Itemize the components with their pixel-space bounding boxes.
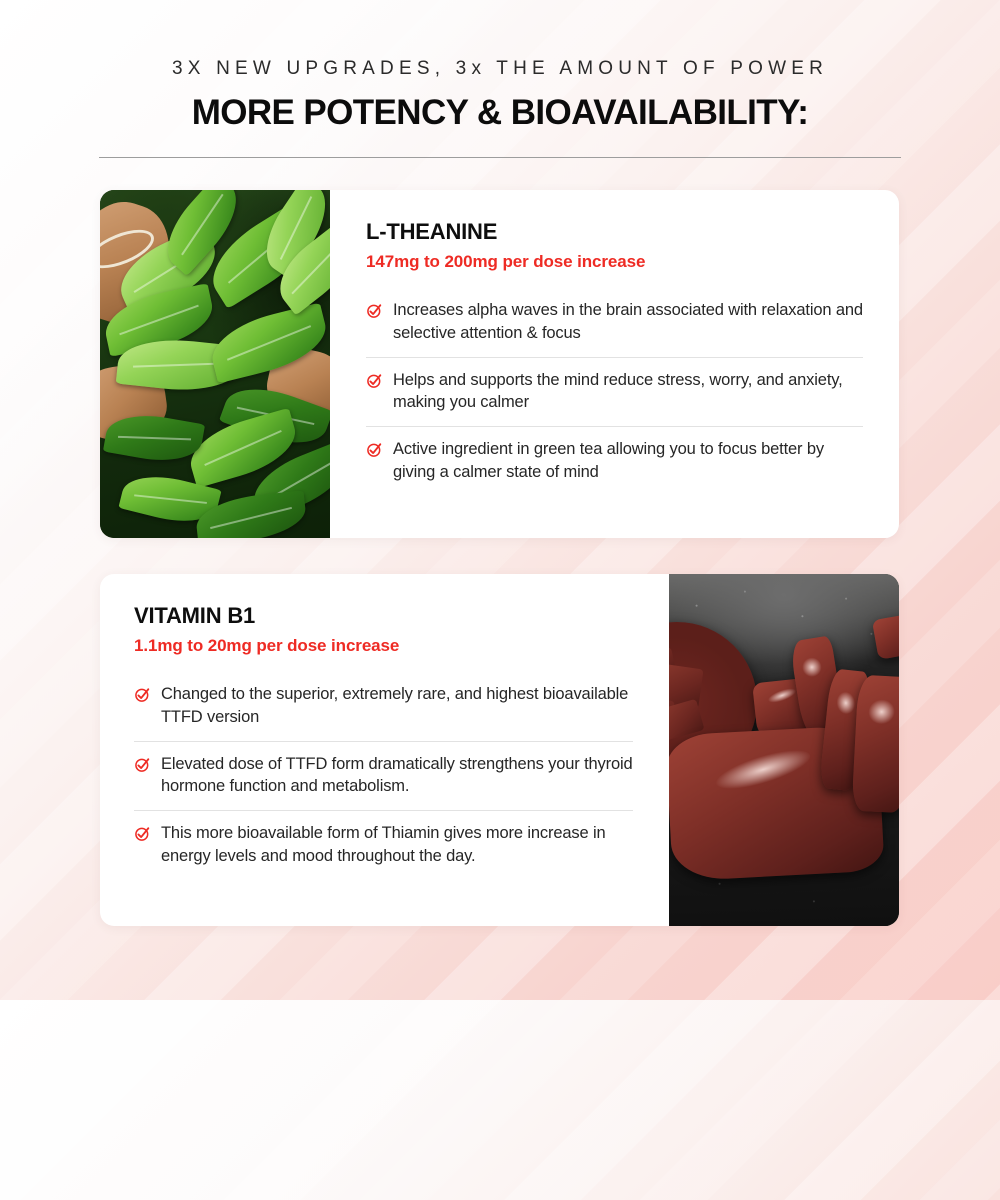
ingredient-photo-liver <box>669 574 899 926</box>
ingredient-name: L-THEANINE <box>366 220 863 244</box>
benefit-text: This more bioavailable form of Thiamin g… <box>161 822 633 868</box>
benefit-text: Active ingredient in green tea allowing … <box>393 438 863 484</box>
infographic-page: 3X NEW UPGRADES, 3x THE AMOUNT OF POWER … <box>0 0 1000 1000</box>
header-eyebrow: 3X NEW UPGRADES, 3x THE AMOUNT OF POWER <box>0 58 1000 80</box>
benefit-list: Increases alpha waves in the brain assoc… <box>366 288 863 496</box>
benefit-text: Increases alpha waves in the brain assoc… <box>393 299 863 345</box>
tea-photo-elements <box>100 190 330 538</box>
dose-change-text: 147mg to 200mg per dose increase <box>366 252 863 272</box>
page-header: 3X NEW UPGRADES, 3x THE AMOUNT OF POWER … <box>0 58 1000 133</box>
check-circle-icon <box>366 372 383 389</box>
liver-photo-elements <box>669 574 899 926</box>
benefit-item: Elevated dose of TTFD form dramatically … <box>134 741 633 811</box>
check-circle-icon <box>134 825 151 842</box>
benefit-text: Changed to the superior, extremely rare,… <box>161 683 633 729</box>
benefit-item: Helps and supports the mind reduce stres… <box>366 357 863 427</box>
dose-change-text: 1.1mg to 20mg per dose increase <box>134 636 633 656</box>
benefit-text: Helps and supports the mind reduce stres… <box>393 369 863 415</box>
card-body-l-theanine: L-THEANINE 147mg to 200mg per dose incre… <box>330 190 899 538</box>
check-circle-icon <box>366 441 383 458</box>
page-title: MORE POTENCY & BIOAVAILABILITY: <box>0 93 1000 133</box>
liver-slice <box>851 675 899 814</box>
check-circle-icon <box>134 756 151 773</box>
liver-slice <box>872 612 899 660</box>
check-circle-icon <box>366 302 383 319</box>
ingredient-card-vitamin-b1: VITAMIN B1 1.1mg to 20mg per dose increa… <box>100 574 899 926</box>
ingredient-photo-green-tea <box>100 190 330 538</box>
ingredient-card-l-theanine: L-THEANINE 147mg to 200mg per dose incre… <box>100 190 899 538</box>
benefit-text: Elevated dose of TTFD form dramatically … <box>161 753 633 799</box>
benefit-item: Increases alpha waves in the brain assoc… <box>366 288 863 357</box>
header-divider <box>99 157 901 158</box>
benefit-item: Active ingredient in green tea allowing … <box>366 426 863 496</box>
benefit-list: Changed to the superior, extremely rare,… <box>134 672 633 880</box>
benefit-item: This more bioavailable form of Thiamin g… <box>134 810 633 880</box>
check-circle-icon <box>134 686 151 703</box>
ingredient-name: VITAMIN B1 <box>134 604 633 628</box>
benefit-item: Changed to the superior, extremely rare,… <box>134 672 633 741</box>
card-body-vitamin-b1: VITAMIN B1 1.1mg to 20mg per dose increa… <box>100 574 669 926</box>
